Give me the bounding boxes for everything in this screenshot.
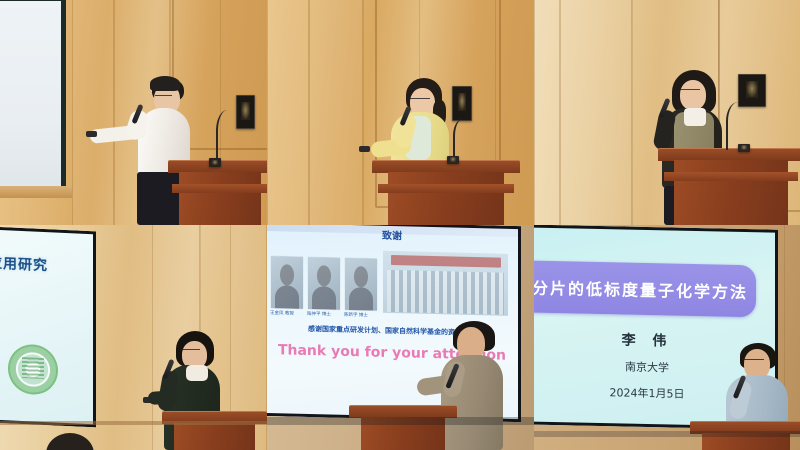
podium (162, 411, 267, 450)
photo-collage: 应用研究 致谢 (0, 0, 800, 450)
podium (372, 160, 520, 225)
panel-top-middle (267, 0, 534, 225)
wall-plaque (452, 86, 472, 121)
panel-top-left (0, 0, 267, 225)
panel-bottom-right: 基于分片的低标度量子化学方法 李 伟 南京大学 2024年1月5日 (534, 225, 800, 450)
window-sill (0, 186, 72, 198)
projection-screen-applied-research: 应用研究 (0, 227, 96, 428)
podium (349, 405, 457, 450)
window (0, 0, 66, 196)
panel-top-right (534, 0, 800, 225)
panel-bottom-middle: 致谢 王金凤 教授 陆仲平 博士 陈新宇 博士 感谢国家重点研发计划、国家自然科… (267, 225, 534, 450)
podium (658, 148, 800, 225)
podium (168, 160, 267, 225)
wall-panel (72, 0, 114, 225)
panel-bottom-left: 应用研究 (0, 225, 267, 450)
